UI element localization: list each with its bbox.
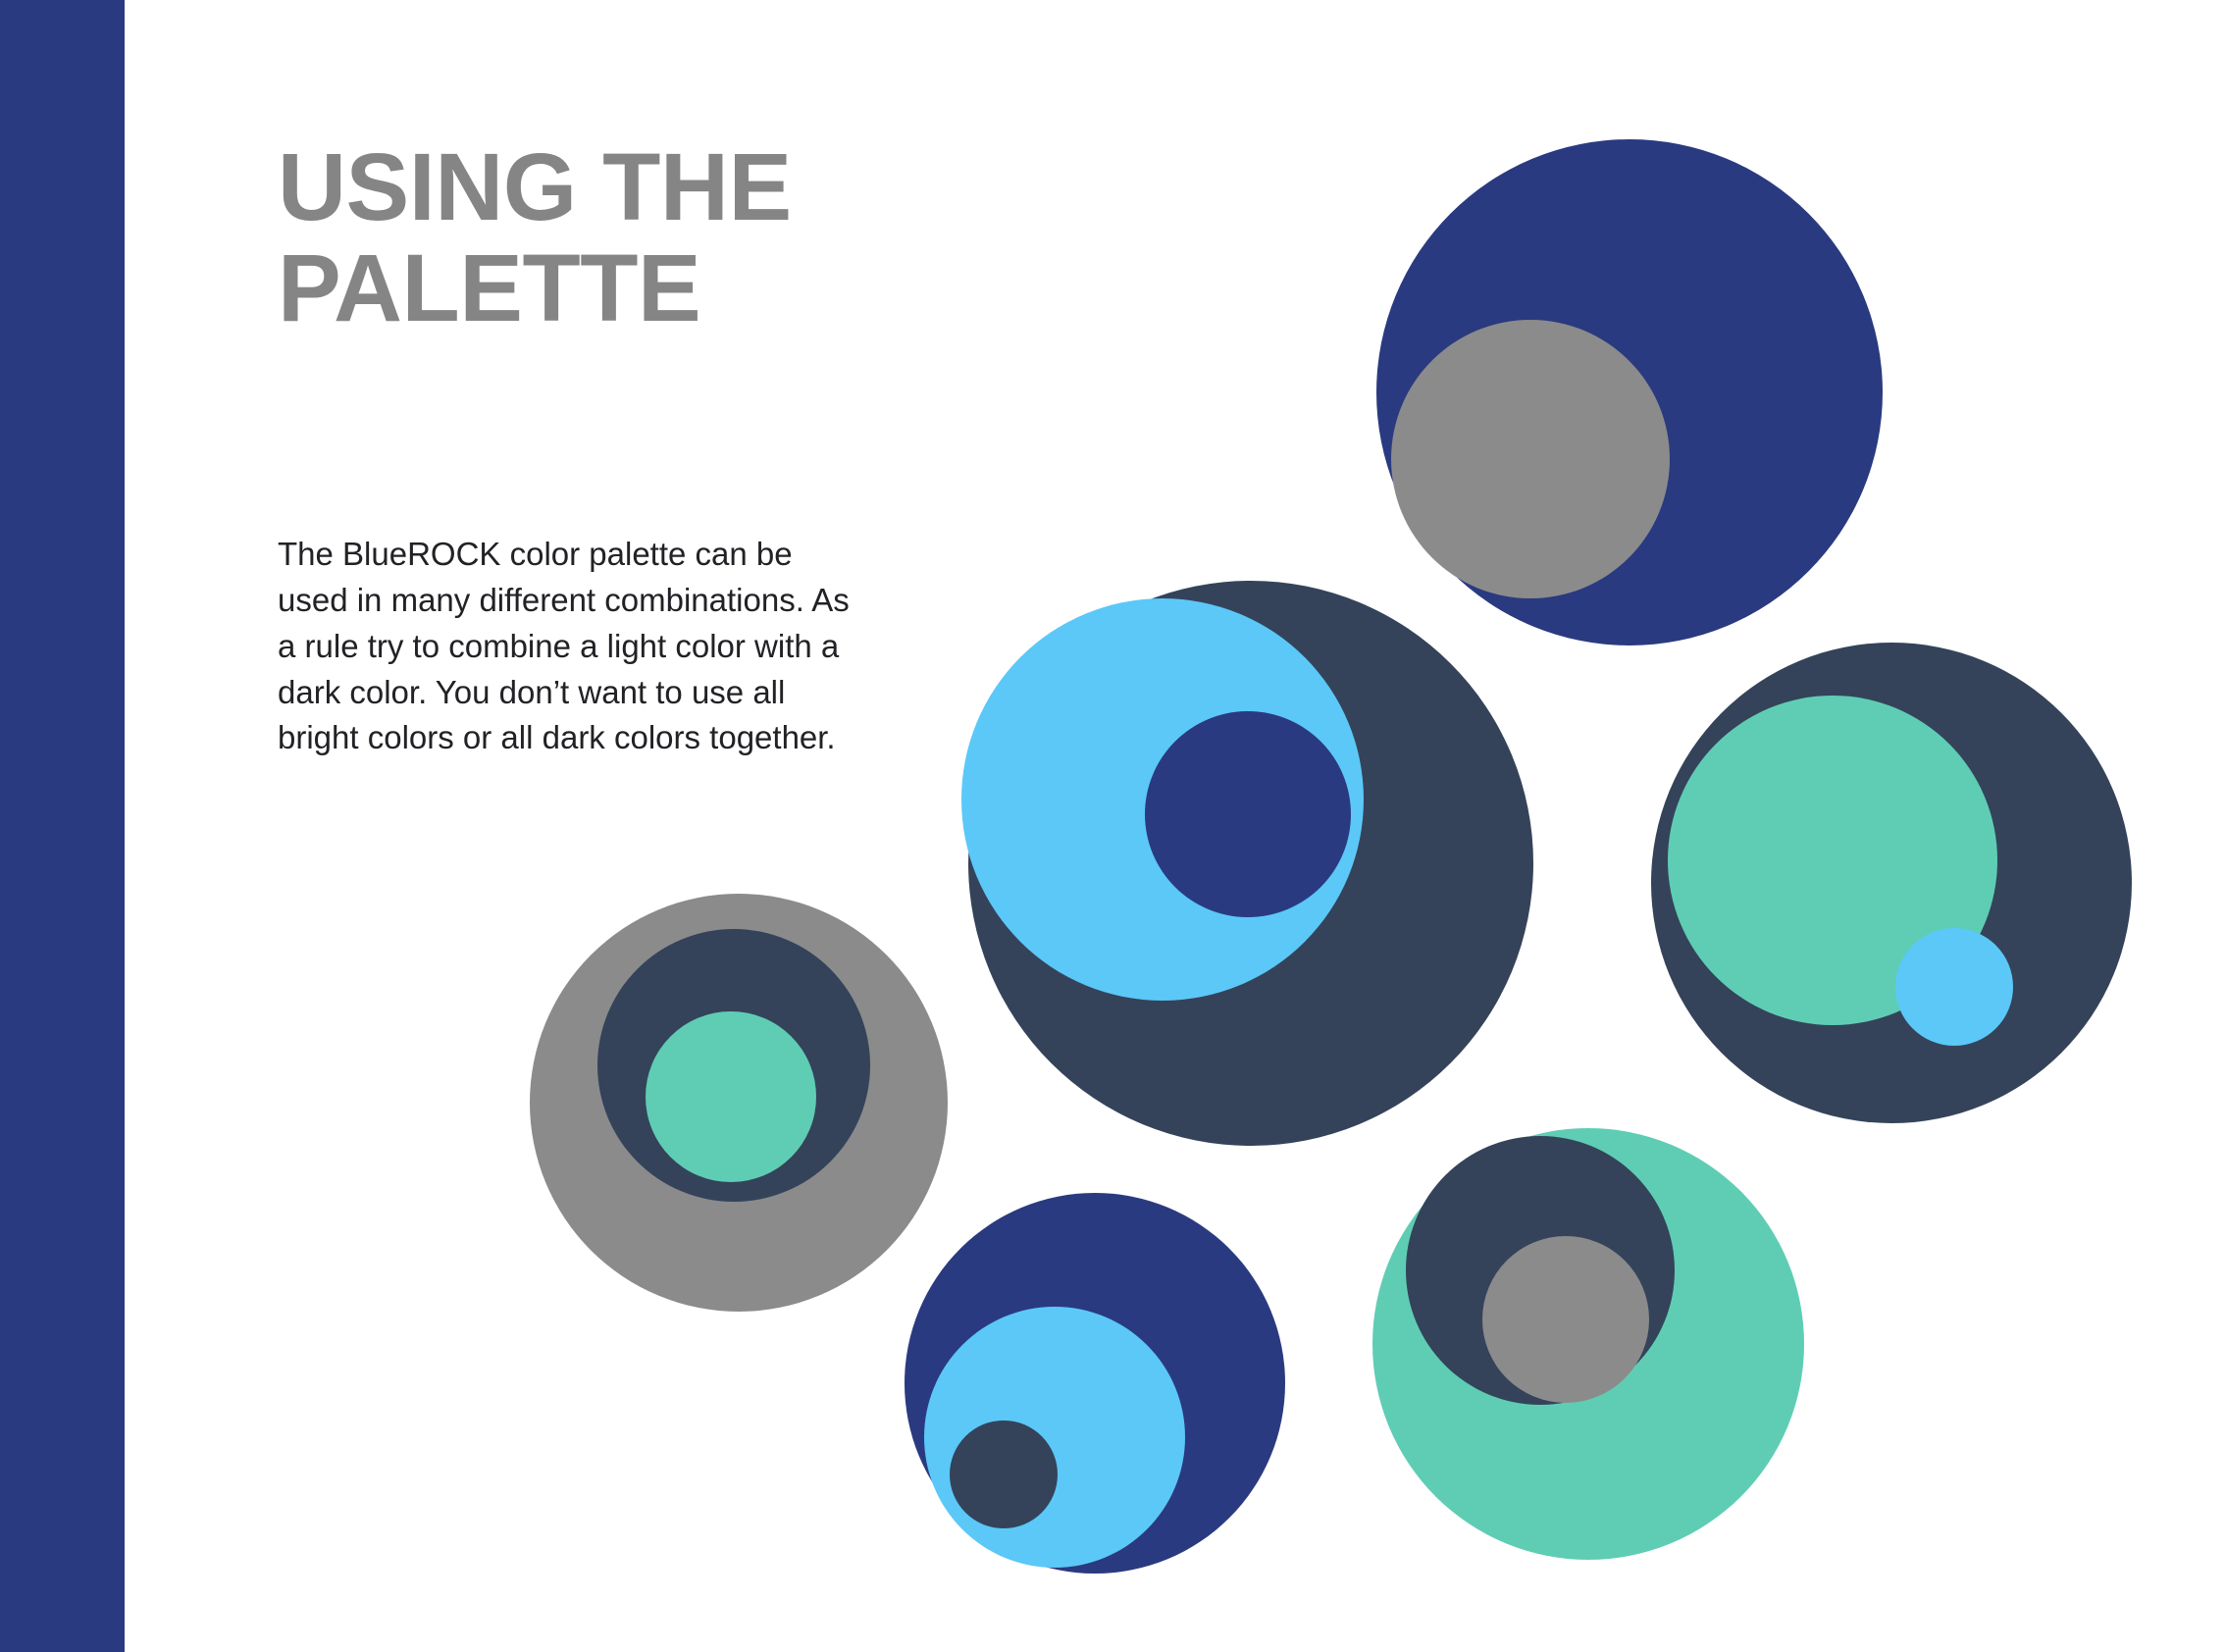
slide-canvas: USING THE PALETTE The BlueROCK color pal… [0, 0, 2225, 1652]
cluster-slate-lightblue-navy [961, 581, 1533, 1146]
cluster-teal-slate-grey-circle-grey-inner [1482, 1236, 1649, 1403]
cluster-teal-slate-grey [1372, 1128, 1804, 1560]
cluster-navy-grey [1376, 139, 1883, 645]
cluster-navy-lightblue-slate [905, 1193, 1285, 1574]
palette-combination-circles [0, 0, 2225, 1652]
cluster-slate-lightblue-navy-circle-navy-inner [1145, 711, 1351, 917]
cluster-slate-teal-lightblue-circle-lightblue-inner [1895, 928, 2013, 1046]
cluster-grey-slate-teal [530, 894, 948, 1312]
cluster-navy-lightblue-slate-circle-lightblue-middle [924, 1307, 1185, 1568]
cluster-grey-slate-teal-circle-teal-inner [646, 1011, 816, 1182]
cluster-navy-grey-circle-grey-inner [1391, 320, 1670, 598]
cluster-navy-lightblue-slate-circle-slate-inner [950, 1420, 1058, 1528]
cluster-slate-teal-lightblue [1651, 643, 2132, 1123]
